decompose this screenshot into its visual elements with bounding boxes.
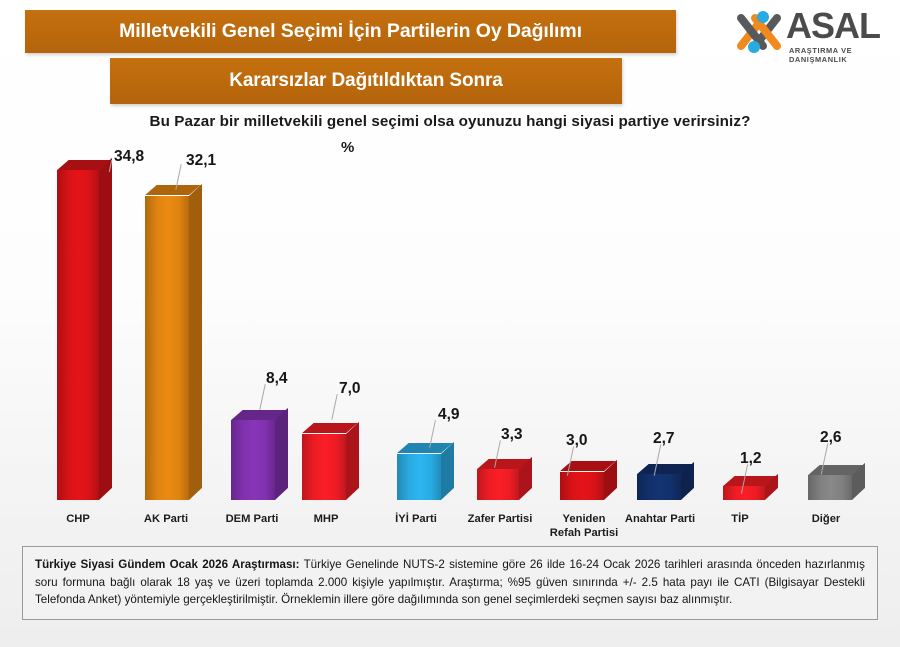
bar-value-label: 1,2 (740, 450, 762, 468)
methodology-footnote: Türkiye Siyasi Gündem Ocak 2026 Araştırm… (22, 546, 878, 620)
poll-infographic: Milletvekili Genel Seçimi İçin Partileri… (0, 0, 900, 647)
bar-value-label: 32,1 (186, 152, 216, 170)
value-leader-line (331, 394, 337, 420)
bar-front-face (397, 454, 441, 500)
main-title-banner: Milletvekili Genel Seçimi İçin Partileri… (25, 10, 676, 53)
bar-side-face (275, 408, 288, 500)
bar-2 (145, 196, 189, 500)
bar-front-face (302, 434, 346, 500)
asal-logo: ASAL ARAŞTIRMA VE DANIŞMANLIK (733, 8, 893, 60)
methodology-lead: Türkiye Siyasi Gündem Ocak 2026 Araştırm… (35, 558, 300, 571)
bar-value-label: 3,0 (566, 432, 588, 450)
bar-category-label: Diğer (778, 512, 874, 526)
bar-3 (231, 420, 275, 500)
bar-category-label: MHP (278, 512, 374, 526)
bar-9 (723, 486, 765, 500)
bar-front-face (145, 196, 189, 500)
asal-logo-mark (733, 8, 785, 54)
bar-10 (808, 475, 852, 500)
logo-tagline: ARAŞTIRMA VE DANIŞMANLIK (789, 46, 893, 64)
bar-value-label: 7,0 (339, 380, 361, 398)
bar-front-face (637, 474, 681, 500)
bar-side-face (346, 421, 359, 499)
bar-side-face (99, 158, 112, 500)
survey-question: Bu Pazar bir milletvekili genel seçimi o… (0, 113, 900, 130)
bar-category-label: CHP (30, 512, 126, 526)
bar-side-face (189, 183, 202, 500)
value-leader-line (259, 384, 265, 410)
bar-6 (477, 469, 519, 500)
bar-value-label: 2,6 (820, 429, 842, 447)
bar-1 (57, 170, 99, 500)
bar-8 (637, 474, 681, 500)
bar-front-face (723, 486, 765, 500)
bar-front-face (57, 170, 99, 500)
vote-distribution-bar-chart: 34,8CHP32,1AK Parti8,4DEM Parti7,0MHP4,9… (0, 130, 900, 530)
bar-category-label: TİP (692, 512, 788, 526)
bar-front-face (560, 472, 604, 500)
bar-5 (397, 454, 441, 500)
bar-value-label: 34,8 (114, 148, 144, 166)
bar-front-face (808, 475, 852, 500)
logo-wordmark: ASAL (786, 6, 880, 46)
bar-front-face (231, 420, 275, 500)
bar-value-label: 8,4 (266, 370, 288, 388)
subtitle-text: Kararsızlar Dağıtıldıktan Sonra (229, 70, 503, 92)
bar-4 (302, 434, 346, 500)
bar-value-label: 3,3 (501, 426, 523, 444)
bar-value-label: 4,9 (438, 406, 460, 424)
main-title-text: Milletvekili Genel Seçimi İçin Partileri… (119, 20, 582, 43)
bar-value-label: 2,7 (653, 430, 675, 448)
bar-front-face (477, 469, 519, 500)
subtitle-banner: Kararsızlar Dağıtıldıktan Sonra (110, 58, 622, 104)
bar-7 (560, 472, 604, 500)
